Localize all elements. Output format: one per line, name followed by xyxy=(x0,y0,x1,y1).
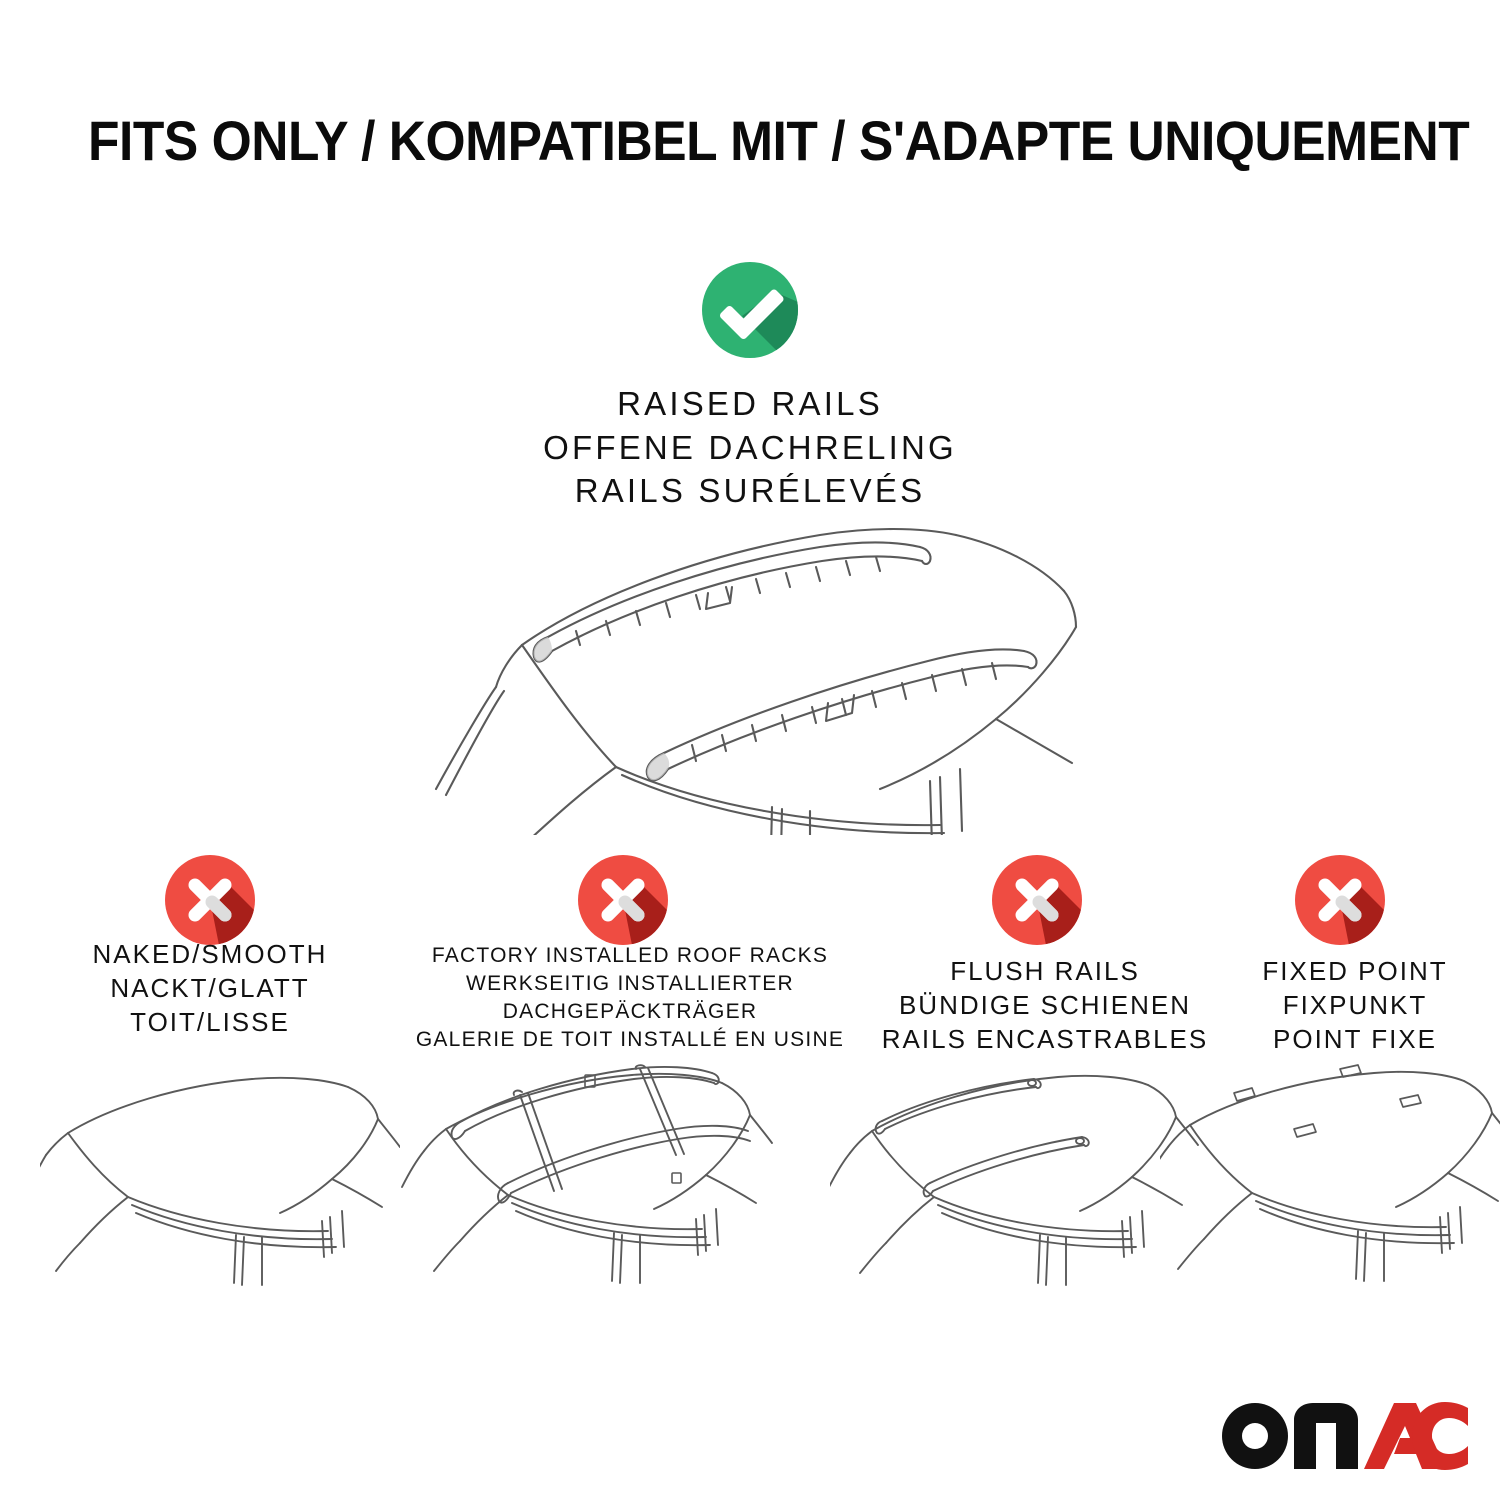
car-roof-flush-rails-illustration xyxy=(830,1055,1210,1295)
caption-flush-rails-line-3: RAILS ENCASTRABLES xyxy=(855,1023,1235,1057)
caption-naked-smooth-line-1: NAKED/SMOOTH xyxy=(30,938,390,972)
caption-factory-racks-line-4: GALERIE DE TOIT INSTALLÉ EN USINE xyxy=(390,1026,870,1054)
car-roof-naked-illustration xyxy=(40,1055,400,1295)
fitment-infographic: FITS ONLY / KOMPATIBEL MIT / S'ADAPTE UN… xyxy=(0,0,1500,1500)
red-cross-icon-fixed-point xyxy=(1295,855,1400,960)
green-check-icon xyxy=(702,262,812,372)
caption-factory-racks: FACTORY INSTALLED ROOF RACKS WERKSEITIG … xyxy=(390,942,870,1055)
caption-factory-racks-line-1: FACTORY INSTALLED ROOF RACKS xyxy=(390,942,870,970)
car-roof-fixed-point-illustration xyxy=(1160,1055,1500,1295)
compatible-line-1: RAISED RAILS xyxy=(350,382,1150,426)
caption-flush-rails: FLUSH RAILS BÜNDIGE SCHIENEN RAILS ENCAS… xyxy=(855,955,1235,1056)
page-title: FITS ONLY / KOMPATIBEL MIT / S'ADAPTE UN… xyxy=(88,108,1469,173)
caption-fixed-point-line-3: POINT FIXE xyxy=(1210,1023,1500,1057)
caption-flush-rails-line-1: FLUSH RAILS xyxy=(855,955,1235,989)
caption-factory-racks-line-3: DACHGEPÄCKTRÄGER xyxy=(390,998,870,1026)
omac-logo xyxy=(1218,1392,1468,1470)
caption-naked-smooth: NAKED/SMOOTH NACKT/GLATT TOIT/LISSE xyxy=(30,938,390,1039)
compatible-line-2: OFFENE DACHRELING xyxy=(350,426,1150,470)
car-roof-factory-racks-illustration xyxy=(400,1055,780,1295)
omac-logo-m xyxy=(1294,1403,1358,1469)
caption-factory-racks-line-2: WERKSEITIG INSTALLIERTER xyxy=(390,970,870,998)
omac-logo-o xyxy=(1222,1403,1288,1469)
caption-flush-rails-line-2: BÜNDIGE SCHIENEN xyxy=(855,989,1235,1023)
caption-naked-smooth-line-3: TOIT/LISSE xyxy=(30,1006,390,1040)
red-cross-icon-flush-rails xyxy=(992,855,1097,960)
compatible-caption: RAISED RAILS OFFENE DACHRELING RAILS SUR… xyxy=(350,382,1150,513)
caption-fixed-point-line-2: FIXPUNKT xyxy=(1210,989,1500,1023)
car-roof-raised-rails-illustration xyxy=(400,505,1100,835)
caption-fixed-point: FIXED POINT FIXPUNKT POINT FIXE xyxy=(1210,955,1500,1056)
caption-fixed-point-line-1: FIXED POINT xyxy=(1210,955,1500,989)
caption-naked-smooth-line-2: NACKT/GLATT xyxy=(30,972,390,1006)
